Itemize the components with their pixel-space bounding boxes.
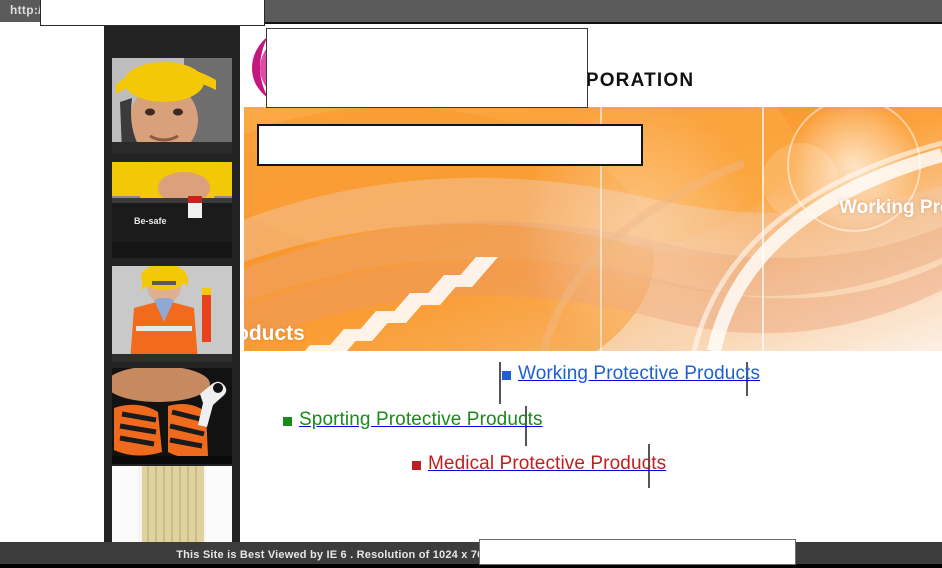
category-label: Working Protective Products (518, 363, 760, 385)
footer-black-edge (0, 564, 942, 568)
category-link-medical-protective-products[interactable]: Medical Protective Products (412, 453, 666, 475)
filmstrip-inner: Be-safe (104, 0, 240, 542)
category-label: Medical Protective Products (428, 453, 666, 475)
overlay-box-header[interactable] (266, 28, 588, 108)
photo-back-support-belt[interactable]: Be-safe (112, 162, 232, 258)
photo-worker-vest[interactable] (112, 266, 232, 362)
category-link-working-protective-products[interactable]: Working Protective Products (502, 363, 760, 385)
overlay-box-banner[interactable] (257, 124, 643, 166)
photo-worker-vest-image (112, 266, 232, 362)
left-page-margin (0, 22, 104, 542)
address-bar-url-text: http:/ (10, 3, 42, 17)
category-label: Sporting Protective Products (299, 409, 543, 431)
product-photo-filmstrip[interactable]: Be-safe (104, 0, 240, 542)
bullet-square-icon (502, 371, 511, 380)
banner-caption-left: oducts (244, 322, 305, 346)
bullet-square-icon (283, 417, 292, 426)
photo-worker-helmet[interactable] (112, 58, 232, 154)
bullet-square-icon (412, 461, 421, 470)
page-root: Be-safe (0, 0, 942, 568)
category-link-sporting-protective-products[interactable]: Sporting Protective Products (283, 409, 543, 431)
overlay-box-footer[interactable] (479, 539, 796, 565)
overlay-box-url-dropdown[interactable] (40, 0, 265, 26)
photo-back-support-belt-image: Be-safe (112, 162, 232, 258)
banner-caption-right: Working Prote (839, 197, 942, 219)
svg-text:Be-safe: Be-safe (134, 216, 167, 226)
category-tick-working (499, 362, 501, 404)
photo-worker-helmet-image (112, 58, 232, 154)
photo-knee-pads[interactable] (112, 368, 232, 464)
photo-knee-pads-image (112, 368, 232, 464)
